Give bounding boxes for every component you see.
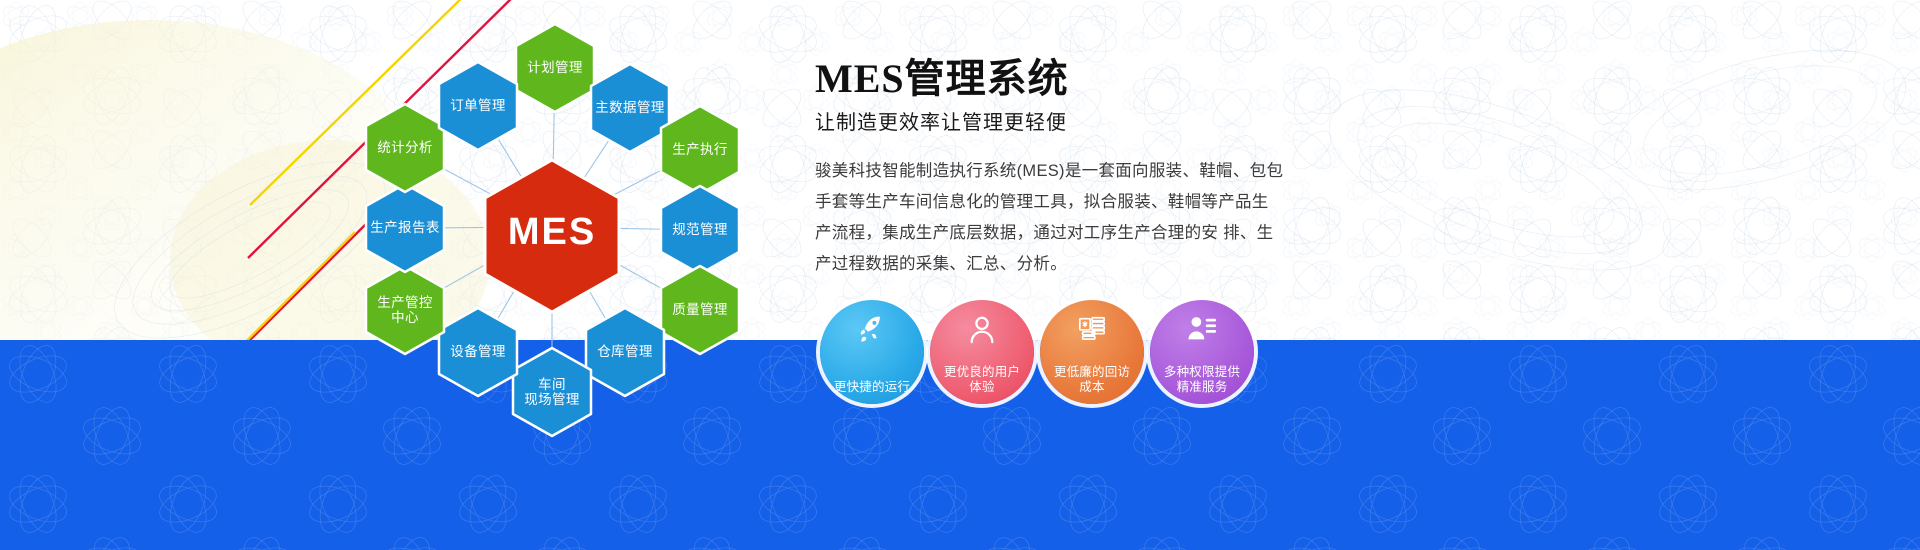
coins-icon xyxy=(1077,314,1107,344)
mes-hexagon-diagram: 计划管理 主数据管理 生产执行 规范管理 质量管理 仓库管理 车间 现场管理 设… xyxy=(330,20,800,440)
badge-permissions-service[interactable]: 多种权限提供 精准服务 xyxy=(1150,300,1254,404)
user-list-icon xyxy=(1187,314,1217,344)
badge-faster-operation[interactable]: 更快捷的运行 xyxy=(820,300,924,404)
badge-line1: 更优良的用户 xyxy=(934,365,1030,380)
badge-line1: 更低廉的回访 xyxy=(1044,365,1140,380)
text-block: MES管理系统 让制造更效率让管理更轻便 骏美科技智能制造执行系统(MES)是一… xyxy=(815,56,1335,280)
badge-line1: 多种权限提供 xyxy=(1154,365,1250,380)
badge-better-user-experience[interactable]: 更优良的用户 体验 xyxy=(930,300,1034,404)
page-title: MES管理系统 xyxy=(815,56,1335,102)
page-subtitle: 让制造更效率让管理更轻便 xyxy=(815,110,1335,136)
badge-text: 多种权限提供 精准服务 xyxy=(1154,365,1250,395)
rocket-icon xyxy=(857,314,887,344)
badge-text: 更低廉的回访 成本 xyxy=(1044,365,1140,395)
badge-text: 更快捷的运行 xyxy=(824,380,920,395)
badge-line2: 体验 xyxy=(934,380,1030,395)
badge-line1: 更快捷的运行 xyxy=(824,380,920,395)
person-icon xyxy=(967,314,997,344)
badge-line2: 成本 xyxy=(1044,380,1140,395)
badge-line2: 精准服务 xyxy=(1154,380,1250,395)
feature-badges: 更快捷的运行 更优良的用户 体验 xyxy=(820,300,1420,410)
badge-text: 更优良的用户 体验 xyxy=(934,365,1030,395)
mes-banner: 计划管理 主数据管理 生产执行 规范管理 质量管理 仓库管理 车间 现场管理 设… xyxy=(0,0,1920,550)
page-description: 骏美科技智能制造执行系统(MES)是一套面向服装、鞋帽、包包手套等生产车间信息化… xyxy=(815,156,1285,280)
hex-center-label: MES xyxy=(472,211,632,254)
badge-lower-cost[interactable]: 更低廉的回访 成本 xyxy=(1040,300,1144,404)
